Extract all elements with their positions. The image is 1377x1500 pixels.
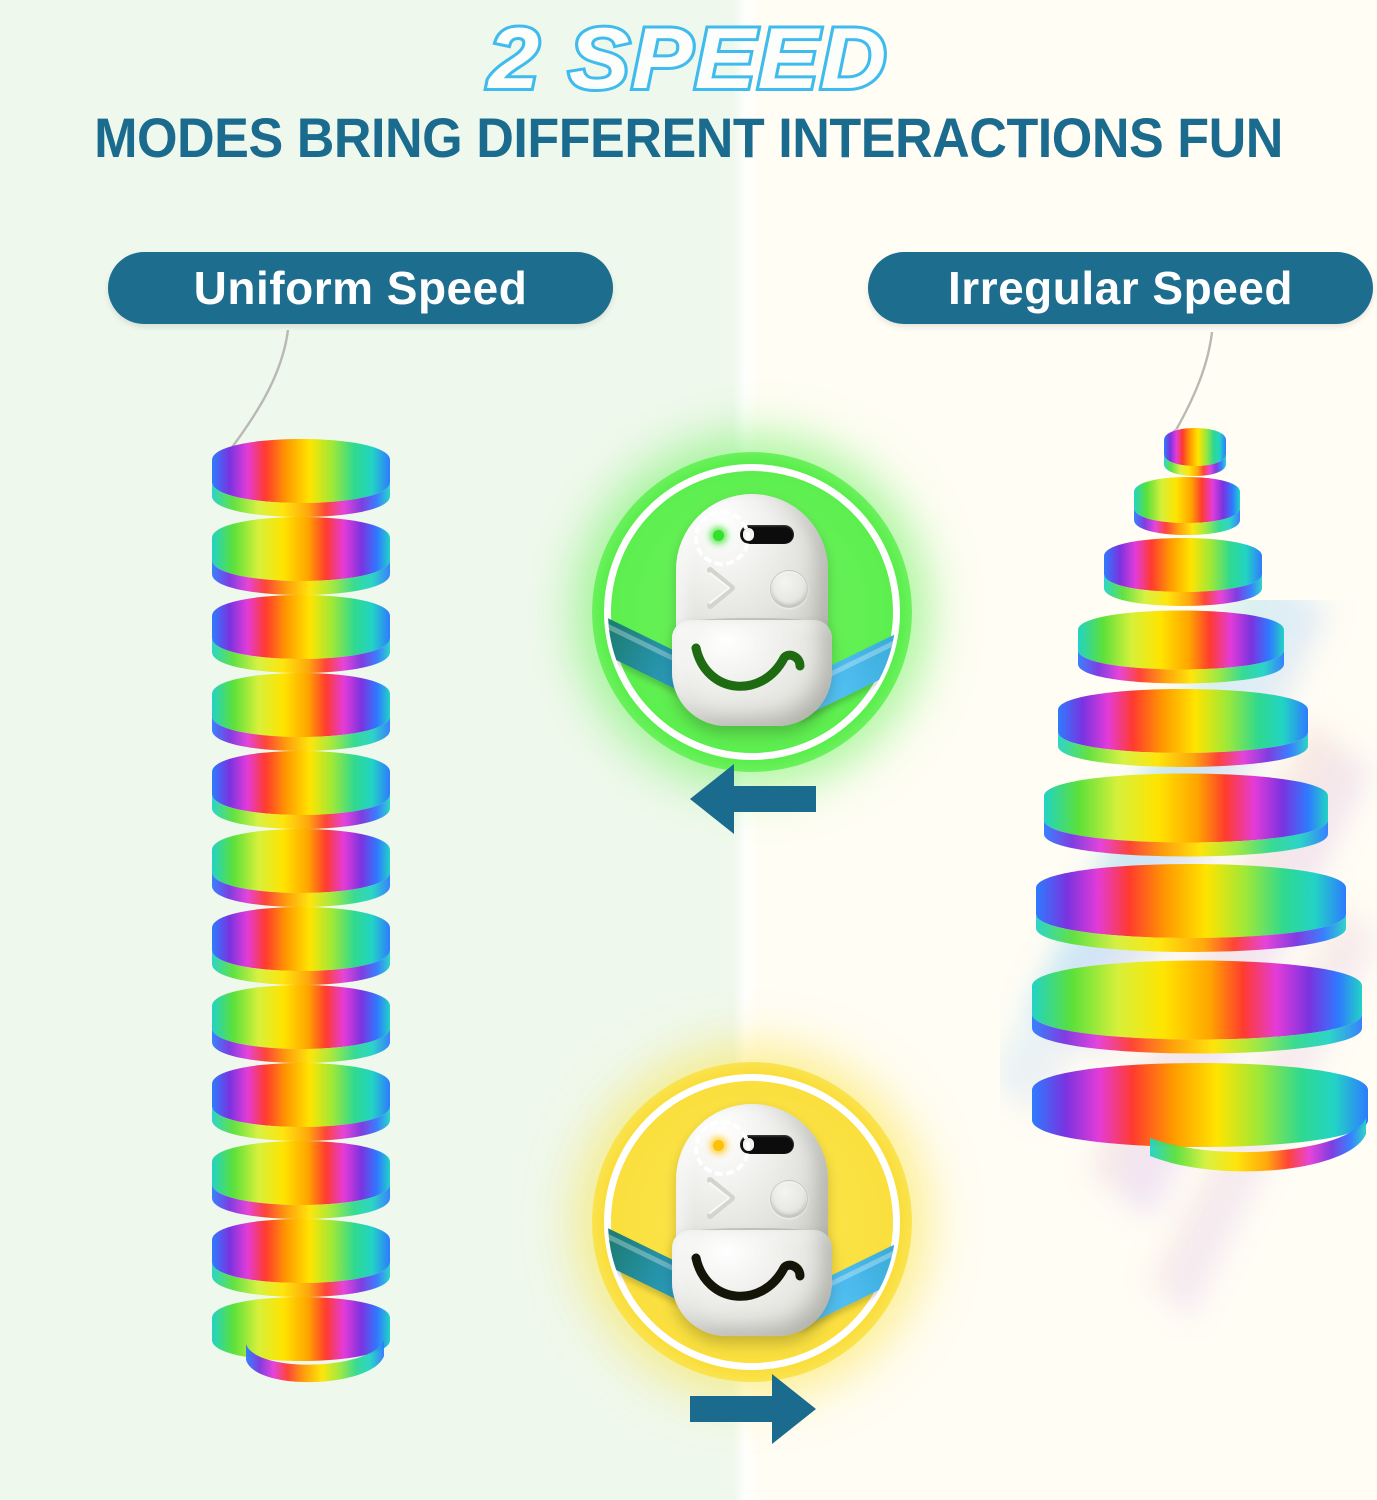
uniform-speed-label-text: Uniform Speed xyxy=(194,261,528,315)
uniform-speed-label-pill: Uniform Speed xyxy=(108,252,613,324)
chevron-marking-icon xyxy=(704,1176,742,1220)
irregular-speed-label-pill: Irregular Speed xyxy=(868,252,1373,324)
device-disc xyxy=(608,1078,896,1366)
product-feature-graphic: 2 SPEED MODES BRING DIFFERENT INTERACTIO… xyxy=(0,0,1377,1500)
arrow-left-icon xyxy=(688,762,818,836)
uniform-speed-spiral xyxy=(186,438,416,1433)
smile-mouth-icon xyxy=(688,1252,812,1318)
device-body xyxy=(668,494,836,726)
device-disc xyxy=(608,468,896,756)
irregular-speed-spiral xyxy=(1030,420,1377,1425)
chevron-marking-icon xyxy=(704,566,742,610)
page-title: 2 SPEED xyxy=(0,16,1377,102)
header: 2 SPEED MODES BRING DIFFERENT INTERACTIO… xyxy=(0,0,1377,185)
device-uniform-mode xyxy=(592,452,912,772)
device-body xyxy=(668,1104,836,1336)
dashed-highlight-ring-icon xyxy=(694,1120,750,1176)
device-irregular-mode xyxy=(592,1062,912,1382)
irregular-speed-label-text: Irregular Speed xyxy=(948,261,1293,315)
smile-mouth-icon xyxy=(688,642,812,708)
dashed-highlight-ring-icon xyxy=(694,510,750,566)
round-button[interactable] xyxy=(770,570,808,608)
round-button[interactable] xyxy=(770,1180,808,1218)
page-subtitle: MODES BRING DIFFERENT INTERACTIONS FUN xyxy=(48,110,1329,166)
arrow-right-icon xyxy=(688,1372,818,1446)
